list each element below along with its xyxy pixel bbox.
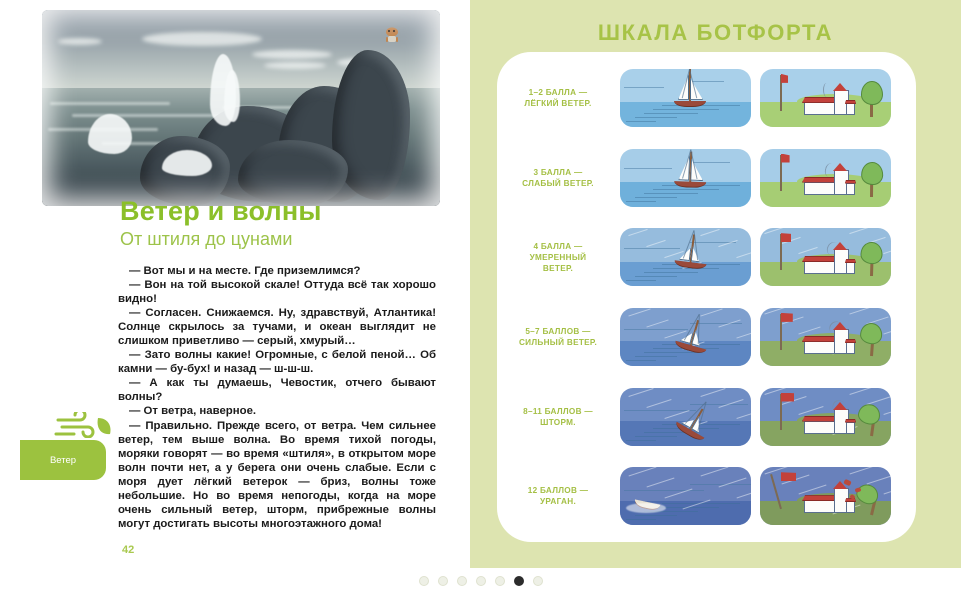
storm-boat-panel — [620, 388, 751, 446]
wave-splash — [162, 150, 212, 176]
cloud-streak — [252, 50, 332, 59]
strong-wind-house-panel — [760, 308, 891, 366]
beaufort-scale-panel: 1–2 БАЛЛА —ЛЁГКИЙ ВЕТЕР. 3 БАЛЛА —СЛА — [497, 52, 916, 542]
wave-stroke — [50, 102, 170, 105]
beaufort-row-label: 3 БАЛЛА —СЛАБЫЙ ВЕТЕР. — [505, 167, 611, 189]
right-page: ШКАЛА БОТФОРТА 1–2 БАЛЛА —ЛЁГКИЙ ВЕТЕР. — [470, 0, 961, 600]
cloud-streak — [142, 32, 262, 46]
storm-house-panel — [760, 388, 891, 446]
cloud-streak — [58, 38, 102, 45]
beaufort-row-label: 12 БАЛЛОВ —УРАГАН. — [505, 485, 611, 507]
hurricane-capsized-boat-panel — [620, 467, 751, 525]
article-body: — Вот мы и на месте. Где приземлимся?— В… — [118, 264, 436, 531]
pagination-dot[interactable] — [457, 576, 467, 586]
page-subtitle: От штиля до цунами — [120, 229, 322, 250]
book-spread: Ветер и волны От штиля до цунами — Вот м… — [0, 0, 961, 600]
pagination-dot[interactable] — [514, 576, 524, 586]
wave-stroke — [48, 128, 158, 131]
wave-stroke — [102, 142, 232, 145]
beaufort-row: 12 БАЛЛОВ —УРАГАН. — [505, 456, 906, 536]
pagination-dot[interactable] — [438, 576, 448, 586]
strong-wind-boat-panel — [620, 308, 751, 366]
pagination-dot[interactable] — [533, 576, 543, 586]
article-paragraph: — От ветра, наверное. — [118, 404, 436, 418]
stormy-sea-illustration — [42, 10, 440, 206]
pagination-dots[interactable] — [0, 576, 961, 586]
wave-stroke — [72, 114, 222, 117]
article-paragraph: — Согласен. Снижаемся. Ну, здравствуй, А… — [118, 306, 436, 348]
illustration-sky — [42, 10, 440, 96]
wave-splash — [224, 70, 240, 122]
page-number: 42 — [122, 544, 134, 556]
section-tab-button[interactable]: Ветер — [20, 440, 106, 480]
beaufort-scale-heading: ШКАЛА БОТФОРТА — [470, 20, 961, 46]
rock-shape — [278, 86, 378, 202]
page-title: Ветер и волны — [120, 196, 322, 227]
beaufort-row-label: 1–2 БАЛЛА —ЛЁГКИЙ ВЕТЕР. — [505, 87, 611, 109]
light-breeze-boat-panel — [620, 149, 751, 207]
rock-shape — [192, 106, 312, 202]
article-paragraph: — Правильно. Прежде всего, от ветра. Чем… — [118, 419, 436, 531]
cloud-streak — [337, 58, 389, 67]
wave-splash — [210, 54, 236, 126]
pagination-dot[interactable] — [495, 576, 505, 586]
article-paragraph: — Зато волны какие! Огромные, с белой пе… — [118, 348, 436, 376]
wave-stroke — [222, 106, 382, 109]
wind-leaf-icon — [54, 412, 114, 438]
beaufort-row-label: 4 БАЛЛА —УМЕРЕННЫЙВЕТЕР. — [505, 241, 611, 274]
moderate-wind-house-panel — [760, 228, 891, 286]
article-title-block: Ветер и волны От штиля до цунами — [120, 196, 322, 250]
wave-splash — [88, 114, 132, 154]
rock-shape — [332, 50, 410, 200]
pagination-dot[interactable] — [419, 576, 429, 586]
character-figure — [382, 26, 402, 44]
beaufort-row: 4 БАЛЛА —УМЕРЕННЫЙВЕТЕР. — [505, 217, 906, 297]
light-breeze-house-panel — [760, 149, 891, 207]
beaufort-row-label: 8–11 БАЛЛОВ —ШТОРМ. — [505, 406, 611, 428]
beaufort-rows-container: 1–2 БАЛЛА —ЛЁГКИЙ ВЕТЕР. 3 БАЛЛА —СЛА — [497, 52, 916, 542]
article-paragraph: — Вот мы и на месте. Где приземлимся? — [118, 264, 436, 278]
moderate-wind-boat-panel — [620, 228, 751, 286]
article-paragraph: — Вон на той высокой скале! Оттуда всё т… — [118, 278, 436, 306]
hurricane-house-panel — [760, 467, 891, 525]
beaufort-row: 5–7 БАЛЛОВ —СИЛЬНЫЙ ВЕТЕР. — [505, 297, 906, 377]
pagination-dot[interactable] — [476, 576, 486, 586]
article-paragraph: — А как ты думаешь, Чевостик, отчего быв… — [118, 376, 436, 404]
beaufort-row: 8–11 БАЛЛОВ —ШТОРМ. — [505, 377, 906, 457]
calm-sea-boat-panel — [620, 69, 751, 127]
illustration-sea — [42, 88, 440, 206]
section-tab-label: Ветер — [50, 455, 76, 466]
calm-land-house-panel — [760, 69, 891, 127]
section-tab[interactable]: Ветер — [20, 440, 106, 480]
left-page: Ветер и волны От штиля до цунами — Вот м… — [0, 0, 470, 600]
cloud-streak — [264, 62, 326, 69]
beaufort-row: 3 БАЛЛА —СЛАБЫЙ ВЕТЕР. — [505, 138, 906, 218]
beaufort-row-label: 5–7 БАЛЛОВ —СИЛЬНЫЙ ВЕТЕР. — [505, 326, 611, 348]
beaufort-row: 1–2 БАЛЛА —ЛЁГКИЙ ВЕТЕР. — [505, 58, 906, 138]
